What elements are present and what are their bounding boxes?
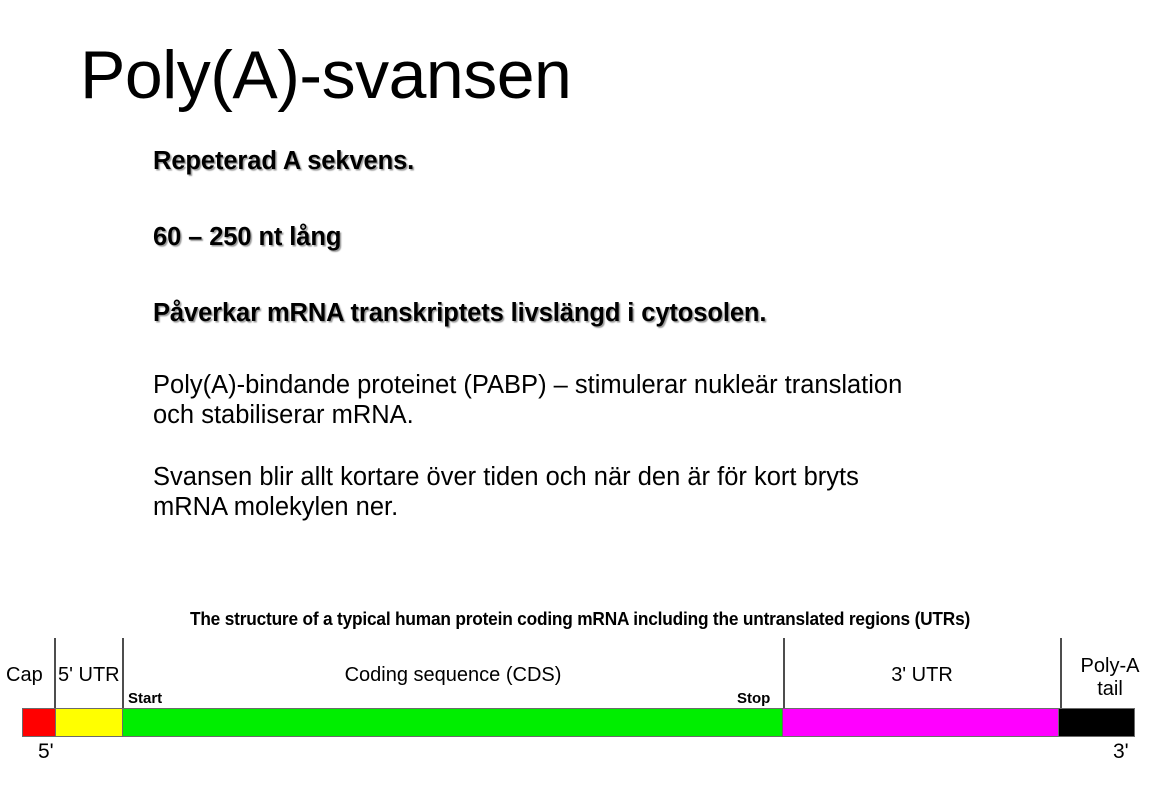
page-title: Poly(A)-svansen [80, 40, 571, 111]
body-line-2: 60 – 250 nt lång [153, 222, 1053, 252]
spacer [153, 176, 1053, 222]
label-stop: Stop [737, 688, 770, 710]
slide: Poly(A)-svansen Repeterad A sekvens. 60 … [0, 0, 1160, 804]
label-3-prime-end: 3' [1113, 740, 1129, 764]
segment-cds [122, 709, 782, 736]
body-line-5: och stabiliserar mRNA. [153, 400, 1053, 430]
spacer [153, 430, 1053, 462]
body-line-3: Påverkar mRNA transkriptets livslängd i … [153, 298, 1053, 328]
spacer [153, 328, 1053, 370]
label-polya-tail: Poly-A tail [1062, 655, 1158, 701]
body-line-4: Poly(A)-bindande proteinet (PABP) – stim… [153, 370, 1053, 400]
label-5-utr: 5' UTR [58, 664, 120, 686]
label-polya-tail-line1: Poly-A [1081, 655, 1140, 677]
divider-cap-5utr [54, 638, 56, 708]
label-start: Start [128, 688, 162, 710]
spacer [153, 252, 1053, 298]
label-3-utr: 3' UTR [785, 664, 1059, 686]
label-coding-sequence: Coding sequence (CDS) [124, 664, 782, 686]
body-line-6: Svansen blir allt kortare över tiden och… [153, 462, 1053, 492]
body-line-7: mRNA molekylen ner. [153, 492, 1053, 522]
mrna-bar [22, 708, 1135, 737]
segment-cap [23, 709, 55, 736]
body-text-block: Repeterad A sekvens. 60 – 250 nt lång På… [153, 146, 1053, 522]
segment-5-utr [55, 709, 122, 736]
diagram-caption: The structure of a typical human protein… [23, 609, 1137, 630]
label-cap: Cap [6, 664, 43, 686]
segment-3-utr [782, 709, 1059, 736]
body-line-1: Repeterad A sekvens. [153, 146, 1053, 176]
mrna-structure-diagram: The structure of a typical human protein… [0, 600, 1160, 804]
label-5-prime-end: 5' [38, 740, 54, 764]
segment-polya-tail [1058, 709, 1134, 736]
label-polya-tail-line2: tail [1097, 678, 1123, 700]
